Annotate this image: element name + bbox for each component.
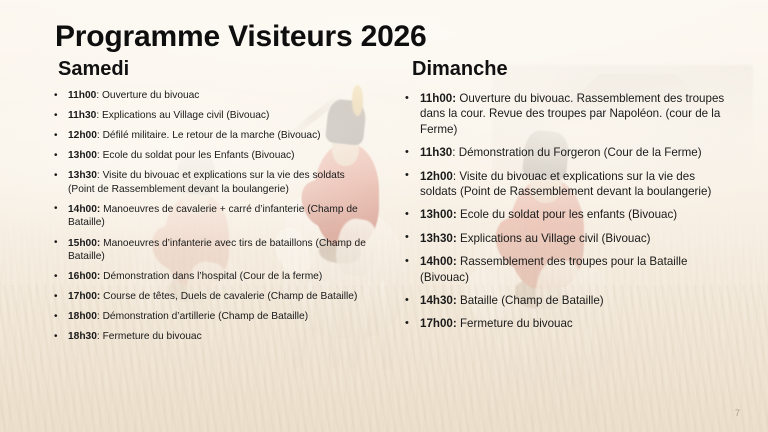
agenda-item-time: 13h00: [420,208,457,221]
agenda-item-description: Course de têtes, Duels de cavalerie (Cha… [100,291,357,302]
agenda-item-time: 13h00 [68,150,97,161]
agenda-item-time: 13h30: [420,232,457,245]
agenda-item-description: Ouverture du bivouac [99,90,199,101]
agenda-item: 14h00: Manoeuvres de cavalerie + carré d… [52,203,372,230]
agenda-item-description: Ecole du soldat pour les enfants (Bivoua… [457,208,677,221]
agenda-item: 12h00: Visite du bivouac et explications… [402,169,732,200]
agenda-item: 14h00: Rassemblement des troupes pour la… [402,254,732,285]
column-samedi: Samedi 11h00: Ouverture du bivouac11h30:… [52,58,372,350]
agenda-item-description: Ouverture du bivouac. Rassemblement des … [420,92,724,136]
day-heading-samedi: Samedi [58,58,372,80]
agenda-item-time: 11h00 [68,90,96,101]
column-dimanche: Dimanche 11h00: Ouverture du bivouac. Ra… [402,58,732,340]
agenda-item-time: 13h30 [68,170,97,181]
agenda-list-dimanche: 11h00: Ouverture du bivouac. Rassembleme… [402,91,732,332]
agenda-item-time: 17h00: [420,317,457,330]
agenda-item-description: Démonstration du Forgeron (Cour de la Fe… [455,146,701,159]
presentation-slide: Programme Visiteurs 2026 Samedi 11h00: O… [0,0,768,432]
agenda-item-description: Démonstration dans l’hospital (Cour de l… [100,271,322,282]
agenda-item-description: Explications au Village civil (Bivouac) [457,232,651,245]
agenda-item: 18h30: Fermeture du bivouac [52,330,372,344]
agenda-item: 14h30: Bataille (Champ de Bataille) [402,293,732,308]
agenda-item-description: Bataille (Champ de Bataille) [457,294,604,307]
agenda-item-description: Démonstration d’artillerie (Champ de Bat… [100,311,308,322]
page-number: 7 [735,408,740,418]
day-heading-dimanche: Dimanche [412,58,732,80]
agenda-item-description: Visite du bivouac et explications sur la… [420,170,711,198]
agenda-item-description: Fermeture du bivouac [100,331,202,342]
agenda-item: 13h00: Ecole du soldat pour les enfants … [402,207,732,222]
agenda-item-time: 12h00 [68,130,97,141]
agenda-item-description: Manoeuvres d’infanterie avec tirs de bat… [68,238,366,263]
agenda-item: 11h00: Ouverture du bivouac [52,89,372,103]
agenda-item-time: 11h00: [420,92,456,105]
agenda-item-time: 14h00: [420,255,457,268]
page-title: Programme Visiteurs 2026 [55,20,427,54]
agenda-item-description: Ecole du soldat pour les Enfants (Bivoua… [100,150,295,161]
agenda-item-time: 14h00: [68,204,100,215]
agenda-item: 18h00: Démonstration d’artillerie (Champ… [52,310,372,324]
agenda-item-time: 18h00 [68,311,97,322]
agenda-item-time: 12h00 [420,170,453,183]
agenda-item-time: 15h00: [68,238,100,249]
agenda-item: 15h00: Manoeuvres d’infanterie avec tirs… [52,237,372,264]
agenda-list-samedi: 11h00: Ouverture du bivouac11h30: Explic… [52,89,372,344]
agenda-item-description: Fermeture du bivouac [457,317,573,330]
agenda-item: 17h00: Fermeture du bivouac [402,316,732,331]
agenda-item-time: 16h00: [68,271,100,282]
agenda-item-time: 17h00: [68,291,100,302]
agenda-item: 17h00: Course de têtes, Duels de cavaler… [52,290,372,304]
agenda-item-time: 18h30 [68,331,97,342]
agenda-item-time: 11h30 [420,146,452,159]
agenda-item: 11h30: Explications au Village civil (Bi… [52,109,372,123]
agenda-item: 13h00: Ecole du soldat pour les Enfants … [52,149,372,163]
agenda-item: 13h30: Visite du bivouac et explications… [52,169,372,196]
agenda-item-description: Défilé militaire. Le retour de la marche… [100,130,321,141]
agenda-item-description: Visite du bivouac et explications sur la… [68,170,345,195]
agenda-item: 16h00: Démonstration dans l’hospital (Co… [52,270,372,284]
agenda-item-description: Explications au Village civil (Bivouac) [99,110,269,121]
agenda-item: 13h30: Explications au Village civil (Bi… [402,231,732,246]
slide-content: Programme Visiteurs 2026 Samedi 11h00: O… [0,0,768,432]
agenda-item-description: Rassemblement des troupes pour la Batail… [420,255,687,283]
agenda-item-description: Manoeuvres de cavalerie + carré d’infant… [68,204,358,229]
agenda-item: 11h30: Démonstration du Forgeron (Cour d… [402,145,732,160]
agenda-item-time: 14h30: [420,294,457,307]
agenda-item-time: 11h30 [68,110,96,121]
agenda-item: 12h00: Défilé militaire. Le retour de la… [52,129,372,143]
agenda-item: 11h00: Ouverture du bivouac. Rassembleme… [402,91,732,137]
